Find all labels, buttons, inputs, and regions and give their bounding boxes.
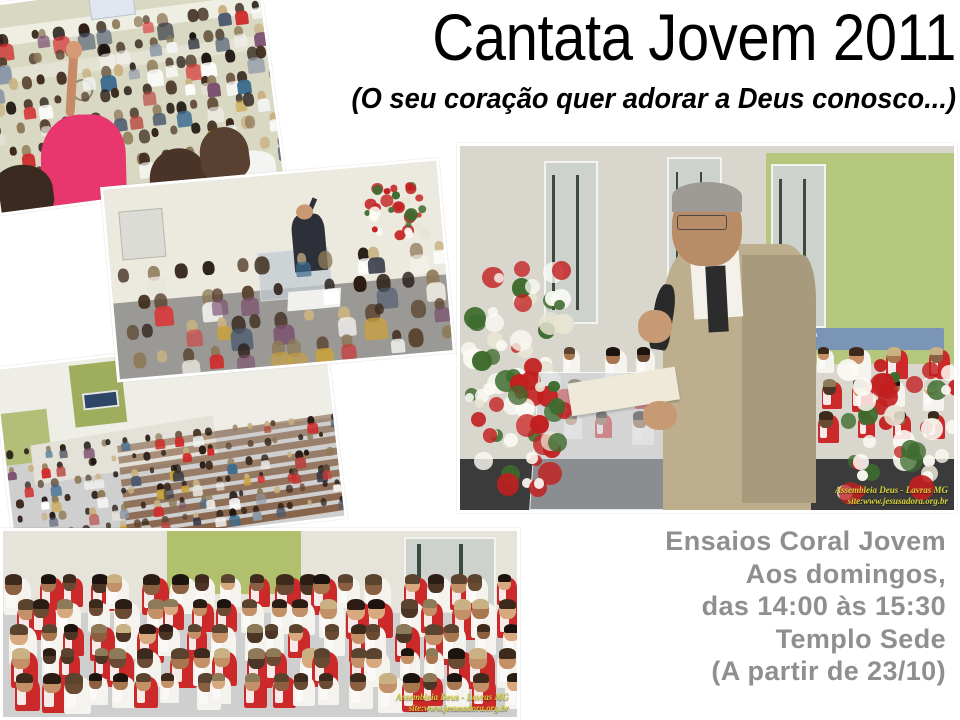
crowd-figures bbox=[103, 161, 452, 379]
info-line-3: das 14:00 às 15:30 bbox=[526, 590, 946, 623]
eyeglasses-icon bbox=[677, 215, 726, 230]
info-line-1: Ensaios Coral Jovem bbox=[526, 525, 946, 558]
info-line-4: Templo Sede bbox=[526, 623, 946, 656]
info-line-5: (A partir de 23/10) bbox=[526, 655, 946, 688]
photo-preacher-main: YAMAHA Assembleia Deus - Lavras MG site:… bbox=[457, 143, 957, 513]
watermark-group-photo: Assembleia Deus - Lavras MG site:www.jes… bbox=[396, 692, 509, 713]
poster-subtitle: (O seu coração quer adorar a Deus conosc… bbox=[283, 82, 956, 116]
flower-arrangement bbox=[835, 357, 954, 503]
necktie bbox=[705, 266, 728, 332]
info-line-2: Aos domingos, bbox=[526, 558, 946, 591]
watermark-large-photo: Assembleia Deus - Lavras MG site:www.jes… bbox=[835, 485, 948, 506]
photo-worship-service bbox=[100, 158, 456, 383]
rehearsal-info-block: Ensaios Coral Jovem Aos domingos, das 14… bbox=[526, 525, 946, 688]
flower-arrangement bbox=[470, 372, 569, 496]
photo-youth-choir-group: Assembleia Deus - Lavras MG site:www.jes… bbox=[0, 528, 520, 720]
poster-canvas: YAMAHA Assembleia Deus - Lavras MG site:… bbox=[0, 0, 960, 720]
poster-title: Cantata Jovem 2011 bbox=[361, 0, 956, 76]
